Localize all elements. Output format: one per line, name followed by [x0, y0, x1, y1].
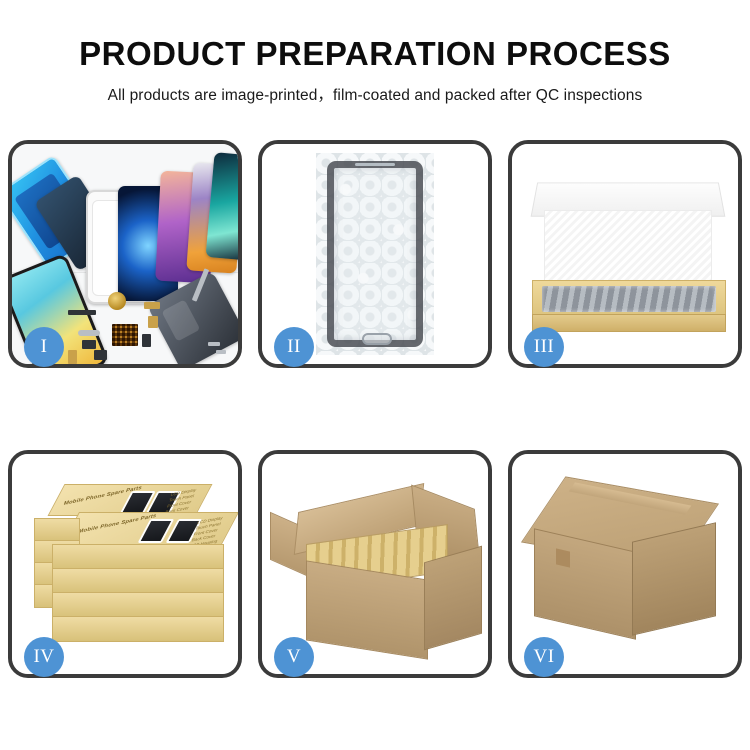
carton-side-face [424, 546, 482, 651]
bubble-wrap-image [316, 153, 434, 355]
stacked-box-rear-2 [34, 518, 80, 542]
flex-cable-part-a [144, 302, 160, 309]
screw-part-a [208, 342, 220, 346]
stacked-box-3 [52, 568, 224, 594]
box-stack-image: Mobile Phone Spare Parts LCD Display Tou… [22, 478, 232, 658]
process-steps-grid: I II III [8, 140, 742, 678]
header: PRODUCT PREPARATION PROCESS All products… [0, 0, 750, 105]
process-step-panel-4: Mobile Phone Spare Parts LCD Display Tou… [8, 450, 242, 678]
step-badge-4: IV [24, 637, 64, 677]
carton-seam [556, 548, 570, 567]
process-step-panel-1: I [8, 140, 242, 368]
sim-tray-part [68, 350, 77, 364]
process-step-panel-3: III [508, 140, 742, 368]
flex-cable-part-b [148, 316, 158, 328]
page-subtitle: All products are image-printed，film-coat… [0, 73, 750, 105]
phone-glass-image [327, 161, 423, 347]
earpiece-part [94, 350, 107, 360]
stacked-box-top-front: Mobile Phone Spare Parts LCD Display Tou… [61, 512, 238, 546]
stacked-box-4 [52, 592, 224, 618]
step-badge-2: II [274, 327, 314, 367]
speaker-part [68, 310, 96, 315]
step-badge-3: III [524, 327, 564, 367]
process-step-panel-2: II [258, 140, 492, 368]
process-step-panel-5: V [258, 450, 492, 678]
page-title: PRODUCT PREPARATION PROCESS [0, 0, 750, 73]
battery-connector-part [142, 334, 151, 347]
product-preparation-process-page: PRODUCT PREPARATION PROCESS All products… [0, 0, 750, 750]
sealed-carton-side-face [632, 522, 716, 635]
box-front-edge-image [532, 314, 726, 332]
vibrator-motor-part [108, 292, 126, 310]
screw-part-b [216, 350, 226, 354]
stacked-box-2 [52, 544, 224, 570]
foam-sheet-image [544, 210, 712, 286]
metal-bracket-part [78, 330, 100, 336]
step-badge-6: VI [524, 637, 564, 677]
camera-module-part [82, 340, 96, 349]
step-badge-5: V [274, 637, 314, 677]
stacked-box-5 [52, 616, 224, 642]
process-step-panel-6: VI [508, 450, 742, 678]
step-badge-1: I [24, 327, 64, 367]
chip-grid-part [112, 324, 138, 346]
